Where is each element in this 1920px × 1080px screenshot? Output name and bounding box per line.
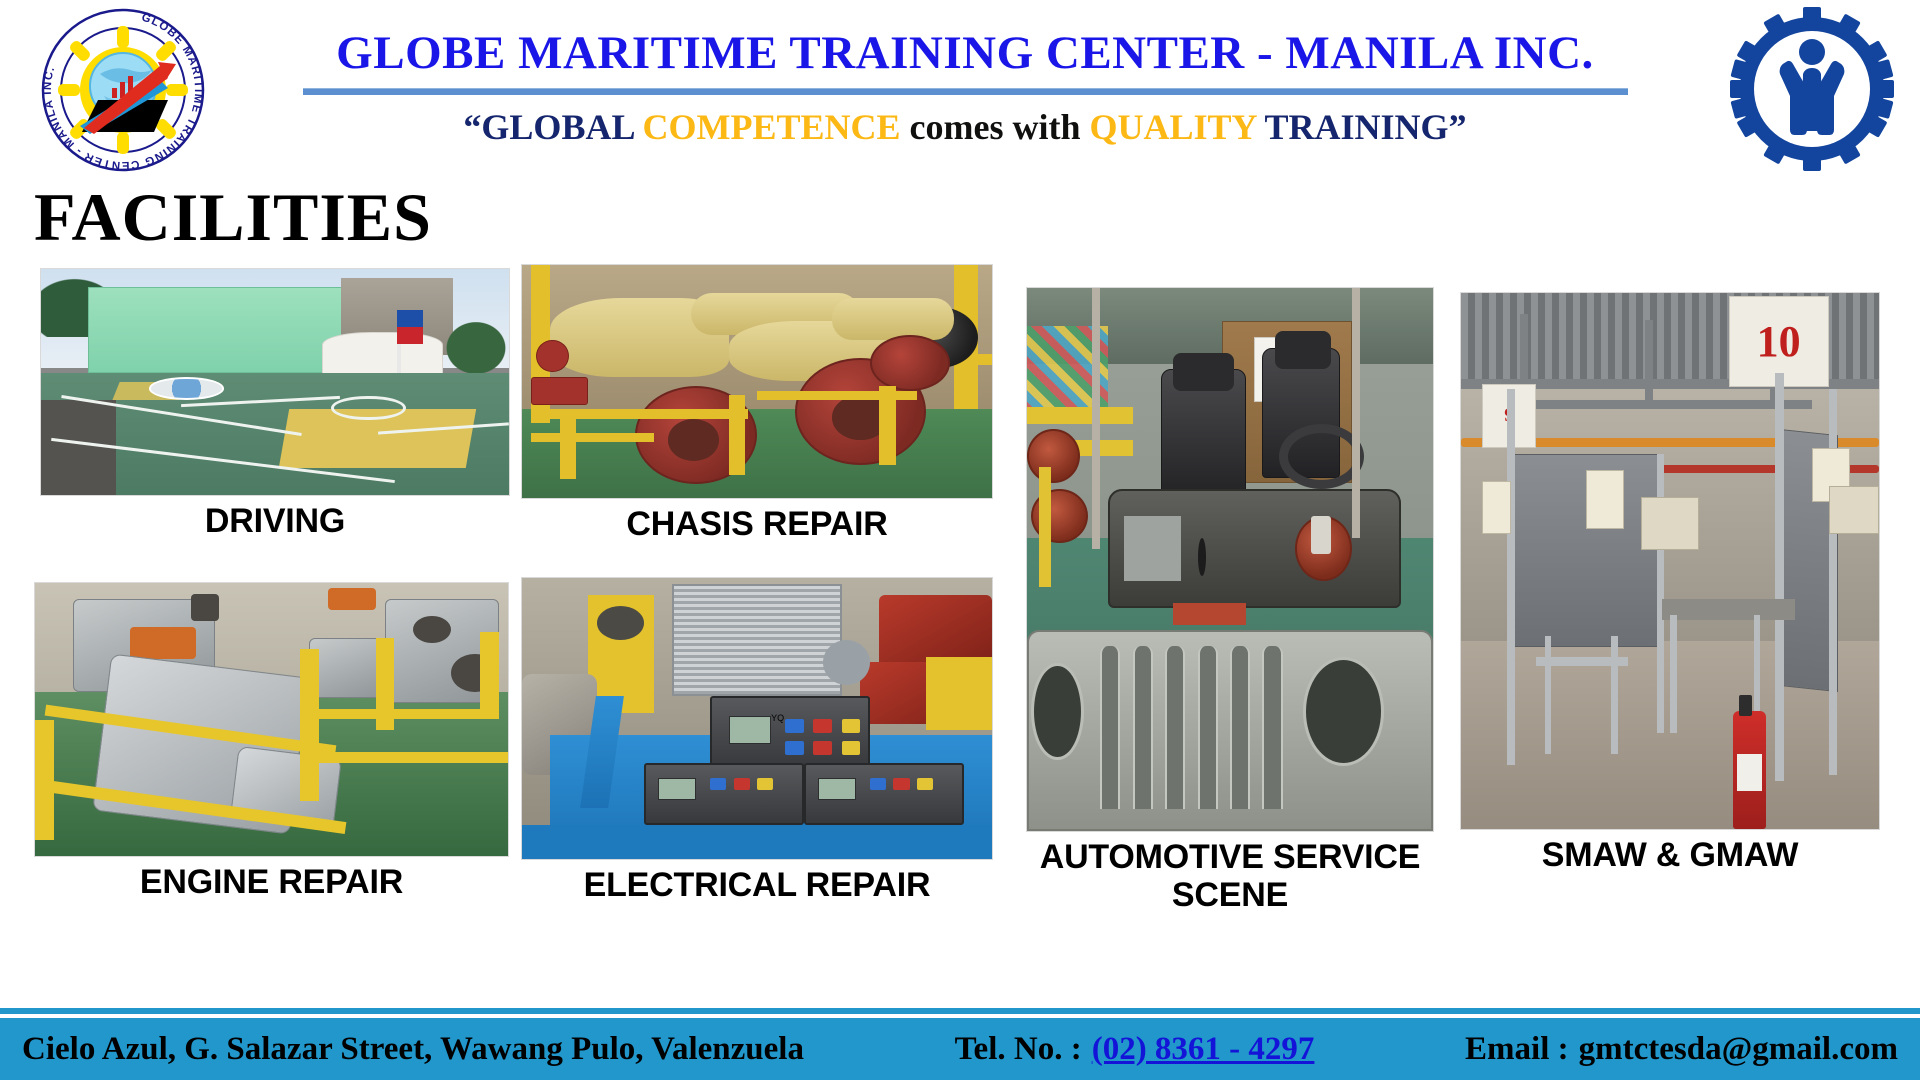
footer-address: Cielo Azul, G. Salazar Street, Wawang Pu…	[22, 1031, 804, 1068]
caption-driving: DRIVING	[40, 496, 510, 540]
electrical-panel-brand-top: YQ	[771, 713, 784, 723]
facility-card-driving[interactable]: DRIVING	[40, 268, 510, 540]
facility-card-electrical[interactable]: YQ ELECTRICAL REPAIR	[521, 577, 993, 904]
slide-root: GLOBE MARITIME TRAINING CENTER - MANILA …	[0, 0, 1920, 1080]
facility-card-chasis[interactable]: CHASIS REPAIR	[521, 264, 993, 543]
footer-email-label: Email :	[1465, 1031, 1569, 1068]
gmtc-logo: GLOBE MARITIME TRAINING CENTER - MANILA …	[8, 4, 238, 176]
footer-address-item: Cielo Azul, G. Salazar Street, Wawang Pu…	[22, 1031, 804, 1068]
footer-tel-label: Tel. No. :	[955, 1031, 1082, 1068]
tagline-comes-with: comes with	[910, 107, 1081, 147]
caption-automotive-service: AUTOMOTIVE SERVICE SCENE	[1026, 832, 1434, 915]
slide-header: GLOBE MARITIME TRAINING CENTER - MANILA …	[0, 0, 1920, 178]
page-title: FACILITIES	[34, 178, 432, 257]
caption-engine-repair: ENGINE REPAIR	[34, 857, 509, 901]
photo-electrical-repair[interactable]: YQ	[521, 577, 993, 860]
contact-footer: Cielo Azul, G. Salazar Street, Wawang Pu…	[0, 1008, 1920, 1080]
caption-smaw-gmaw: SMAW & GMAW	[1460, 830, 1880, 874]
organization-title: GLOBE MARITIME TRAINING CENTER - MANILA …	[250, 28, 1680, 79]
tagline-competence: COMPETENCE	[642, 107, 900, 147]
header-text-block: GLOBE MARITIME TRAINING CENTER - MANILA …	[250, 28, 1680, 147]
photo-smaw-gmaw[interactable]: 9 10	[1460, 292, 1880, 830]
footer-email-item: Email : gmtctesda@gmail.com	[1465, 1031, 1898, 1068]
facility-card-welding[interactable]: 9 10	[1460, 292, 1880, 874]
tesda-logo	[1712, 6, 1912, 172]
photo-driving[interactable]	[40, 268, 510, 496]
tagline: “GLOBAL COMPETENCE comes with QUALITY TR…	[250, 108, 1680, 148]
footer-email-address[interactable]: gmtctesda@gmail.com	[1579, 1031, 1898, 1068]
caption-electrical-repair: ELECTRICAL REPAIR	[521, 860, 993, 904]
footer-telephone-item: Tel. No. : (02) 8361 - 4297	[955, 1031, 1315, 1068]
tagline-global: “GLOBAL	[463, 107, 633, 147]
photo-chasis-repair[interactable]	[521, 264, 993, 499]
facility-card-engine[interactable]: ENGINE REPAIR	[34, 582, 509, 901]
caption-chasis-repair: CHASIS REPAIR	[521, 499, 993, 543]
tesda-logo-svg	[1712, 6, 1912, 172]
gmtc-logo-svg: GLOBE MARITIME TRAINING CENTER - MANILA …	[8, 4, 238, 176]
header-divider	[303, 88, 1628, 95]
tagline-quality: QUALITY	[1089, 107, 1256, 147]
footer-tel-number[interactable]: (02) 8361 - 4297	[1092, 1031, 1315, 1068]
facilities-gallery: DRIVING	[0, 262, 1920, 1010]
photo-engine-repair[interactable]	[34, 582, 509, 857]
tagline-training: TRAINING”	[1265, 107, 1467, 147]
facility-card-automotive[interactable]: AUTOMOTIVE SERVICE SCENE	[1026, 287, 1434, 915]
photo-automotive-service[interactable]	[1026, 287, 1434, 832]
